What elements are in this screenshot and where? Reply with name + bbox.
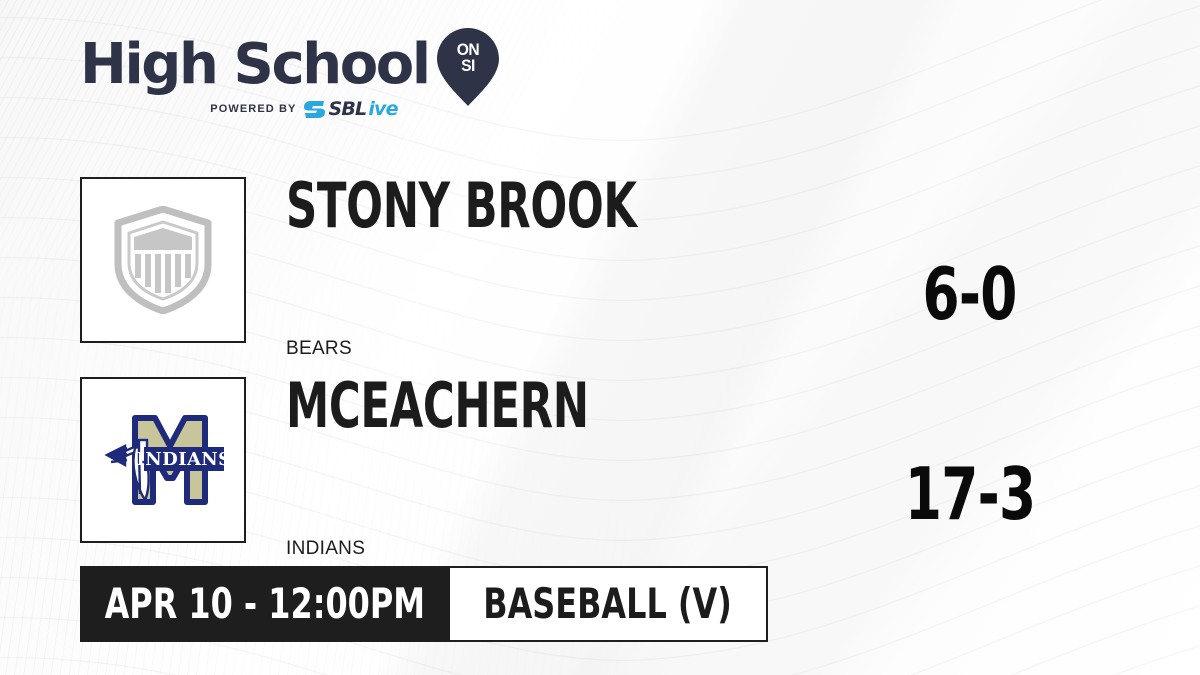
team-score-2: 17-3 bbox=[820, 458, 1120, 530]
game-date-time-block: APR 10 - 12:00PM bbox=[80, 566, 450, 642]
team-logo-card-1 bbox=[80, 177, 246, 343]
team-name-2: MCEACHERN bbox=[286, 375, 589, 437]
on-si-pin-label: ON SI bbox=[437, 42, 499, 74]
sblive-wordmark-blue: ive bbox=[368, 98, 397, 120]
team-mascot-2: INDIANS bbox=[286, 538, 365, 560]
powered-by-label: POWERED BY bbox=[210, 103, 296, 115]
team-score-1-value: 6-0 bbox=[923, 258, 1017, 330]
game-sport: BASEBALL (V) bbox=[484, 583, 733, 625]
page-title: High School bbox=[80, 37, 429, 93]
team-logo-card-2: INDIANS bbox=[80, 377, 246, 543]
team-mascot-1: BEARS bbox=[286, 338, 352, 360]
game-date-time: APR 10 - 12:00PM bbox=[105, 583, 425, 625]
brand-block: High School ON SI POWERED BY SBL bbox=[80, 34, 510, 120]
on-si-pin-icon: ON SI bbox=[437, 28, 499, 106]
game-sport-block: BASEBALL (V) bbox=[450, 566, 768, 642]
team-score-1: 6-0 bbox=[820, 258, 1120, 330]
game-info-bar: APR 10 - 12:00PM BASEBALL (V) bbox=[80, 566, 768, 642]
svg-text:INDIANS: INDIANS bbox=[136, 449, 225, 470]
pin-label-si: SI bbox=[439, 58, 496, 74]
matchup-graphic: High School ON SI POWERED BY SBL bbox=[0, 0, 1200, 675]
placeholder-shield-icon bbox=[113, 206, 213, 314]
brand-title-row: High School ON SI bbox=[80, 34, 510, 96]
team-score-2-value: 17-3 bbox=[905, 458, 1035, 530]
mceachern-indians-logo: INDIANS bbox=[101, 408, 225, 512]
sblive-logo: SBL ive bbox=[304, 98, 397, 120]
sblive-wordmark-dark: SBL bbox=[328, 98, 366, 120]
sblive-swoosh-icon bbox=[304, 100, 326, 119]
team-name-1: STONY BROOK bbox=[286, 175, 637, 237]
